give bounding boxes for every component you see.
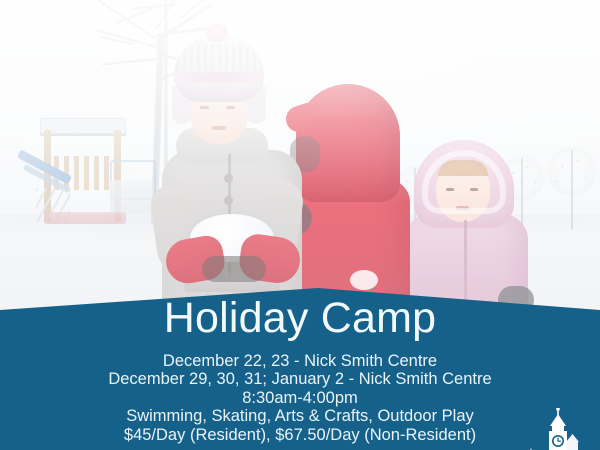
playground-structure [14,118,154,230]
page-title: Holiday Camp [0,296,600,342]
holiday-camp-poster: Holiday Camp December 22, 23 - Nick Smit… [0,0,600,450]
detail-line-1: December 22, 23 - Nick Smith Centre [0,352,600,371]
child-pink-snowsuit [404,140,532,320]
detail-line-2: December 29, 30, 31; January 2 - Nick Sm… [0,370,600,389]
winter-photo [0,0,600,320]
child-grey-coat [150,24,310,320]
town-hall-clock-tower-logo [508,408,592,450]
detail-line-3: 8:30am-4:00pm [0,389,600,408]
